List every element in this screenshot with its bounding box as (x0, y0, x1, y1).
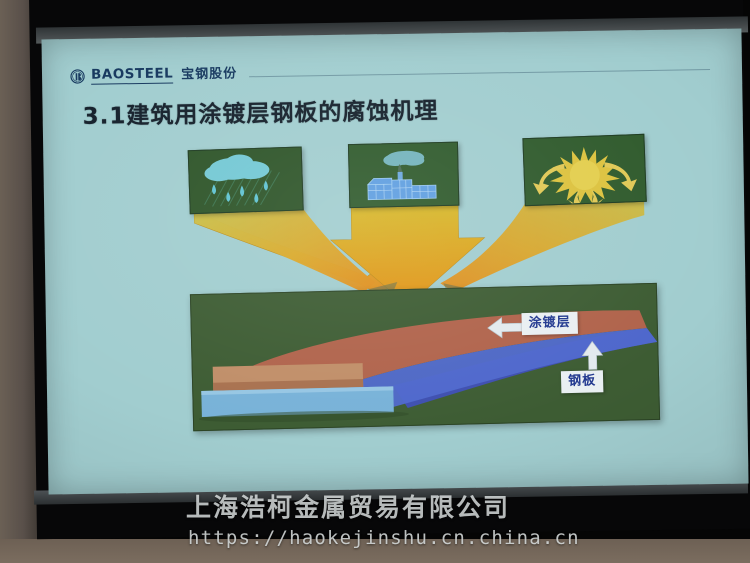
sun-rays-icon (523, 135, 645, 205)
corrosion-diagram: 涂镀层 钢板 (190, 283, 660, 431)
logo-wordmark: BAOSTEEL (91, 66, 173, 84)
slide-title: 3.1建筑用涂镀层钢板的腐蚀机理 (82, 91, 438, 131)
projector-photo: BAOSTEEL 宝钢股份 3.1建筑用涂镀层钢板的腐蚀机理 (0, 0, 750, 563)
panel-sun-uv (522, 134, 646, 206)
presentation-slide: BAOSTEEL 宝钢股份 3.1建筑用涂镀层钢板的腐蚀机理 (41, 29, 748, 495)
rain-cloud-icon (189, 147, 303, 213)
slide-header: BAOSTEEL 宝钢股份 (70, 53, 710, 89)
header-divider-rule (249, 69, 710, 77)
baosteel-circle-logo-icon (70, 68, 85, 83)
panel-rain (188, 146, 304, 214)
room-wall-bottom (0, 539, 750, 563)
callout-coating-layer: 涂镀层 (521, 312, 578, 336)
logo-chinese-name: 宝钢股份 (181, 66, 237, 82)
panel-factory-smoke (348, 142, 459, 208)
factory-smokestack-icon (349, 143, 458, 207)
coated-steel-plate-illustration (191, 284, 659, 430)
callout-steel-plate: 钢板 (561, 370, 604, 393)
